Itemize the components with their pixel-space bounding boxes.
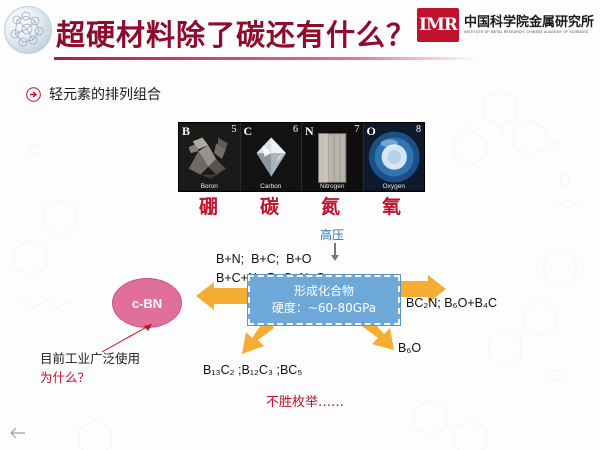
down-arrow-icon <box>334 243 336 255</box>
element-symbol: B <box>182 124 190 139</box>
element-cell-carbon: C 6 Carbon <box>241 123 303 191</box>
note-left: 目前工业广泛使用 为什么？ <box>40 350 140 388</box>
bullet-row: 轻元素的排列组合 <box>26 84 161 104</box>
cbn-bubble: c-BN <box>112 278 182 328</box>
slide-header: 超硬材料除了碳还有什么？ IMR 中国科学院金属研究所 INSTITUTE OF… <box>0 0 600 62</box>
element-name: Nitrogen <box>302 183 363 190</box>
imr-logo: IMR 中国科学院金属研究所 INSTITUTE OF METAL RESEAR… <box>417 5 594 45</box>
page-title: 超硬材料除了碳还有什么？ <box>56 12 416 54</box>
element-name: Boron <box>179 183 240 190</box>
result-right: BC₂N; B₆O+B₄C <box>406 296 497 310</box>
compound-box-line1: 形成化合物 <box>294 283 354 300</box>
element-name: Carbon <box>241 183 302 190</box>
institute-seal-logo <box>4 6 52 54</box>
element-number: 6 <box>293 124 298 135</box>
element-photo-strip: B 5 Boron C 6 Carbon <box>178 122 425 192</box>
result-bottom: B₁₃C₂ ;B₁₂C₃ ;BC₅ <box>203 363 302 377</box>
note-countless: 不胜枚举…… <box>266 391 344 410</box>
element-name-cn-nitrogen: 氮 <box>300 192 361 219</box>
cbn-label: c-BN <box>132 296 162 311</box>
element-cell-boron: B 5 Boron <box>179 123 241 191</box>
element-cell-oxygen: O 8 Oxygen <box>364 123 425 191</box>
arrow-left-to-cbn-icon <box>196 282 248 318</box>
element-symbol: C <box>244 124 253 139</box>
compound-box-line2: 硬度：~60-80GPa <box>272 300 376 317</box>
element-names-cn: 硼 碳 氮 氧 <box>178 192 423 218</box>
prev-arrow-icon[interactable] <box>8 426 26 440</box>
imr-name-en: INSTITUTE OF METAL RESEARCH, CHINESE ACA… <box>464 30 594 34</box>
title-underline <box>54 57 478 60</box>
arrow-bullet-icon <box>26 87 41 102</box>
element-symbol: O <box>367 124 376 139</box>
element-number: 7 <box>355 124 360 135</box>
note-left-line1: 目前工业广泛使用 <box>40 350 140 369</box>
imr-mark: IMR <box>417 8 459 42</box>
element-cell-nitrogen: N 7 Nitrogen <box>302 123 364 191</box>
imr-name-cn: 中国科学院金属研究所 <box>464 16 594 30</box>
element-number: 8 <box>416 124 421 135</box>
pressure-label: 高压 <box>320 226 344 243</box>
compound-summary-box: 形成化合物 硬度：~60-80GPa <box>248 275 400 325</box>
element-number: 5 <box>232 124 237 135</box>
slide-canvas: 超硬材料除了碳还有什么？ IMR 中国科学院金属研究所 INSTITUTE OF… <box>0 0 600 450</box>
element-name-cn-boron: 硼 <box>178 192 239 219</box>
element-symbol: N <box>305 124 314 139</box>
element-name-cn-oxygen: 氧 <box>361 192 422 219</box>
element-name-cn-carbon: 碳 <box>239 192 300 219</box>
bullet-label: 轻元素的排列组合 <box>49 84 161 104</box>
reaction-line-1: B+N; B+C; B+O <box>216 250 325 269</box>
note-left-line2: 为什么？ <box>40 369 140 388</box>
result-b6o: B₆O <box>398 341 421 355</box>
element-name: Oxygen <box>364 183 425 190</box>
